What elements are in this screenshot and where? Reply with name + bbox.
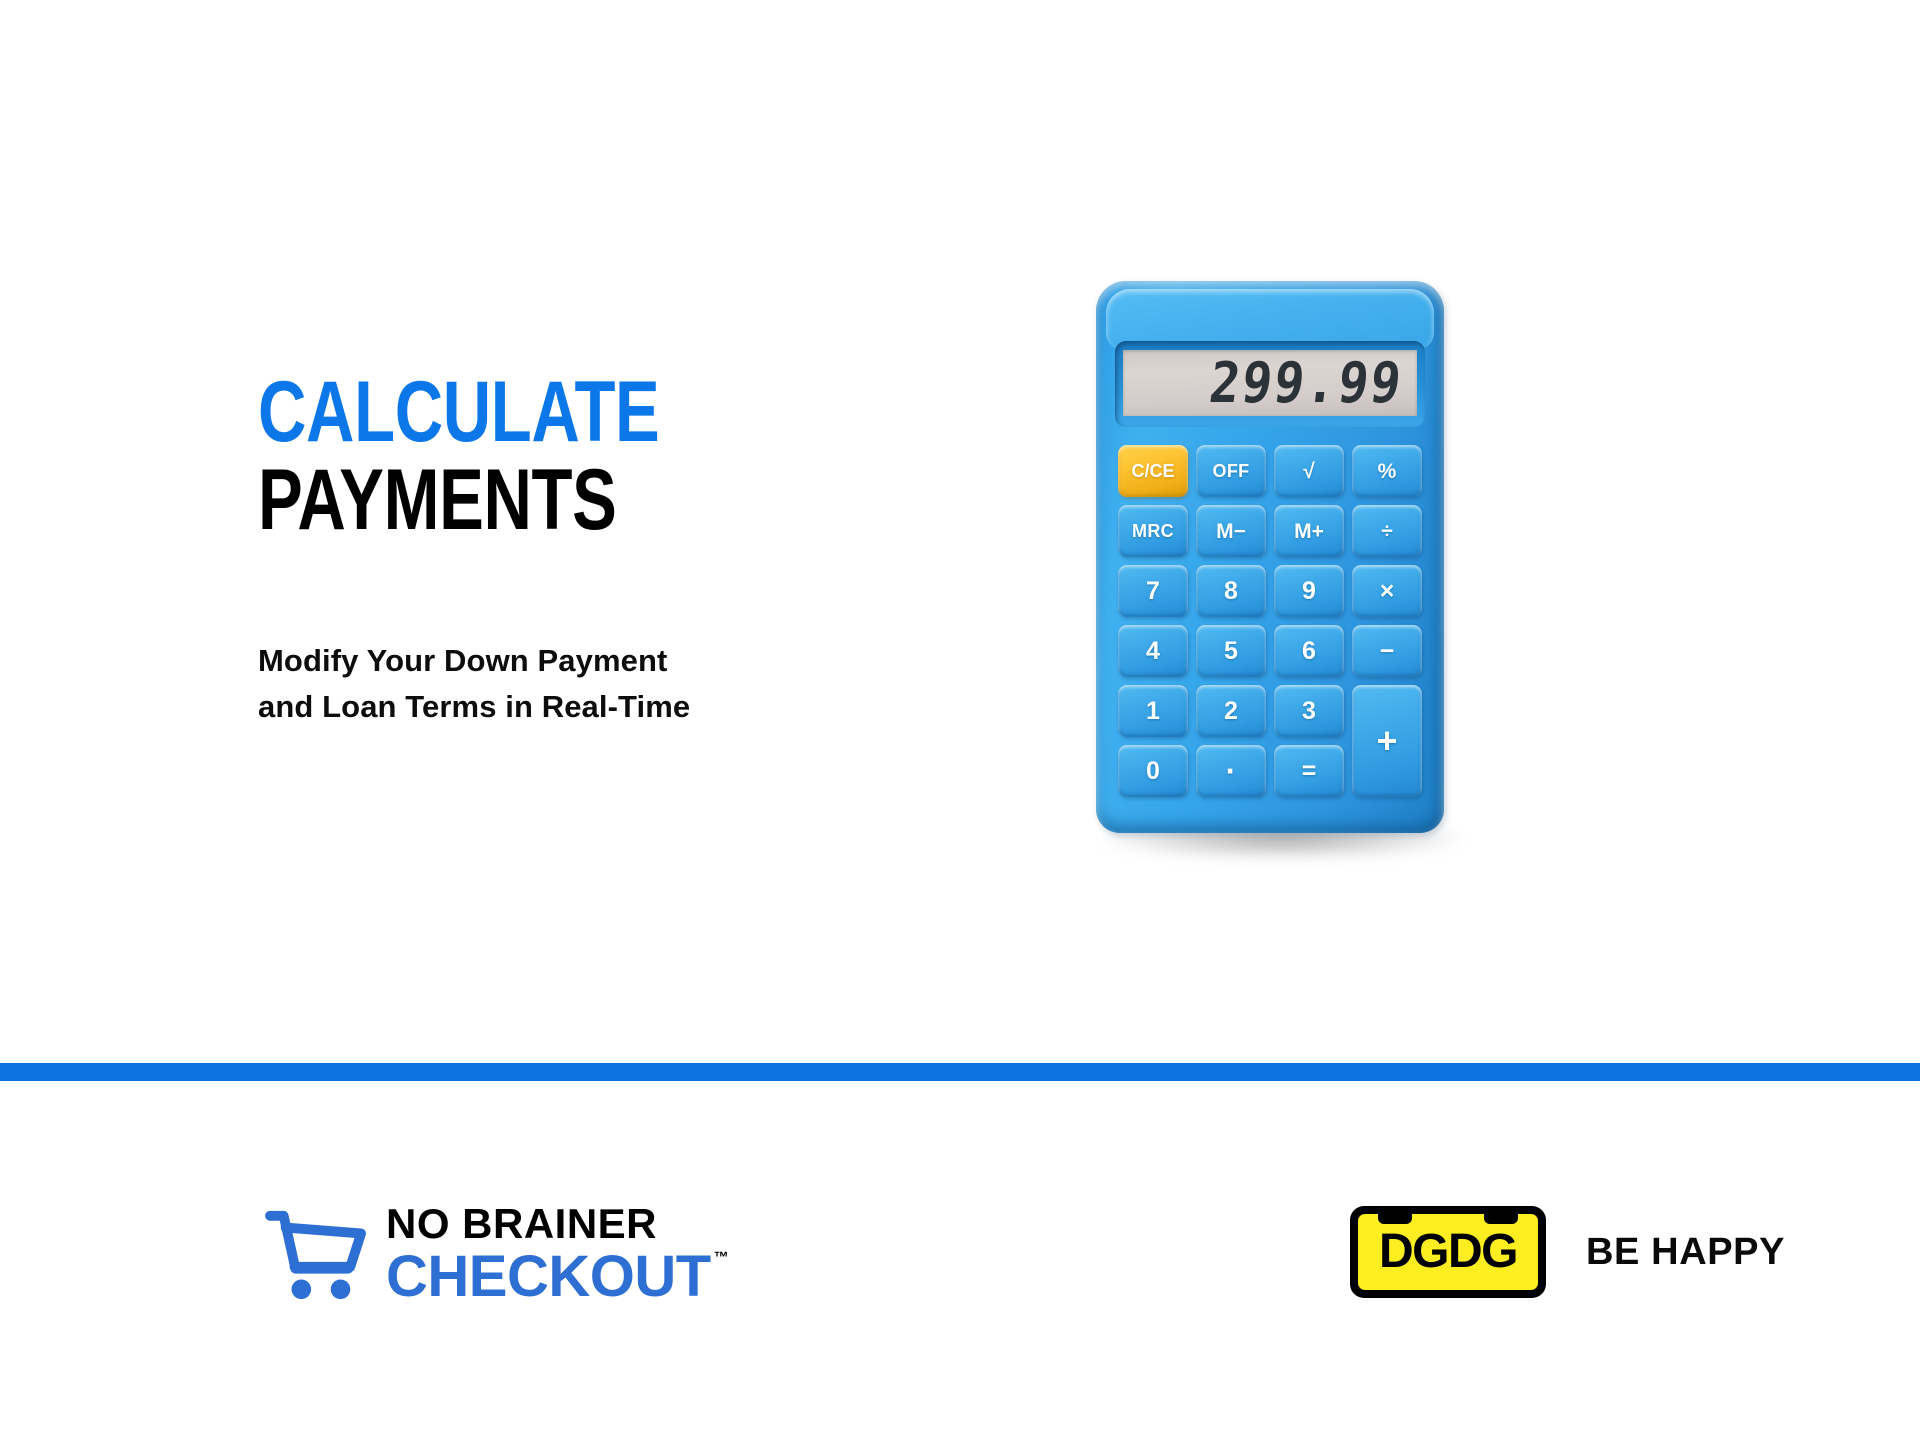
- nbc-wordmark-line-2-row: CHECKOUT ™: [386, 1248, 729, 1306]
- calc-key-2[interactable]: 2: [1196, 685, 1266, 737]
- nbc-wordmark-line-1: NO BRAINER: [386, 1203, 729, 1245]
- dgdg-tagline: BE HAPPY: [1586, 1233, 1785, 1271]
- calc-key-sqrt[interactable]: √: [1274, 445, 1344, 497]
- calc-key-4[interactable]: 4: [1118, 625, 1188, 677]
- nbc-wordmark-line-2: CHECKOUT: [386, 1248, 711, 1306]
- calculator-top-bezel: [1106, 289, 1434, 349]
- calculator-lcd-screen: 299.99: [1123, 350, 1417, 416]
- calculator-keypad[interactable]: C/CEOFF√%MRCM−M+÷789×456−123+0·=: [1118, 445, 1422, 803]
- subtitle-block: Modify Your Down Payment and Loan Terms …: [258, 638, 958, 730]
- calc-key-subtract[interactable]: −: [1352, 625, 1422, 677]
- calc-key-mrc[interactable]: MRC: [1118, 505, 1188, 557]
- calc-key-6[interactable]: 6: [1274, 625, 1344, 677]
- no-brainer-checkout-wordmark: NO BRAINER CHECKOUT ™: [386, 1203, 729, 1306]
- calc-key-clear[interactable]: C/CE: [1118, 445, 1188, 497]
- calc-key-memory-plus[interactable]: M+: [1274, 505, 1344, 557]
- calc-key-equals[interactable]: =: [1274, 745, 1344, 797]
- calculator-body: 299.99 C/CEOFF√%MRCM−M+÷789×456−123+0·=: [1096, 281, 1444, 833]
- dgdg-plate-notch-right: [1484, 1212, 1518, 1224]
- calculator-display-value: 299.99: [1207, 355, 1407, 411]
- subtitle-line-1: Modify Your Down Payment: [258, 638, 958, 684]
- section-divider-bar: [0, 1063, 1920, 1081]
- calc-key-9[interactable]: 9: [1274, 565, 1344, 617]
- headline-block: CALCULATE PAYMENTS: [258, 372, 1018, 541]
- calc-key-add[interactable]: +: [1352, 685, 1422, 797]
- calc-key-memory-minus[interactable]: M−: [1196, 505, 1266, 557]
- calc-key-8[interactable]: 8: [1196, 565, 1266, 617]
- calc-key-3[interactable]: 3: [1274, 685, 1344, 737]
- calc-key-5[interactable]: 5: [1196, 625, 1266, 677]
- subtitle-line-2: and Loan Terms in Real-Time: [258, 684, 958, 730]
- dgdg-logo[interactable]: DGDG BE HAPPY: [1350, 1206, 1785, 1298]
- dgdg-license-plate: DGDG: [1350, 1206, 1546, 1298]
- calc-key-off[interactable]: OFF: [1196, 445, 1266, 497]
- calc-key-divide[interactable]: ÷: [1352, 505, 1422, 557]
- calc-key-percent[interactable]: %: [1352, 445, 1422, 497]
- dgdg-plate-inner: DGDG: [1358, 1214, 1538, 1290]
- hero-panel: CALCULATE PAYMENTS Modify Your Down Paym…: [0, 0, 1920, 1063]
- calc-key-multiply[interactable]: ×: [1352, 565, 1422, 617]
- no-brainer-checkout-logo[interactable]: NO BRAINER CHECKOUT ™: [262, 1203, 729, 1306]
- calculator-illustration: 299.99 C/CEOFF√%MRCM−M+÷789×456−123+0·=: [1082, 281, 1482, 861]
- calc-key-7[interactable]: 7: [1118, 565, 1188, 617]
- calc-key-decimal[interactable]: ·: [1196, 745, 1266, 797]
- dgdg-plate-text: DGDG: [1379, 1228, 1517, 1276]
- headline-line-secondary: PAYMENTS: [258, 460, 851, 542]
- calc-key-0[interactable]: 0: [1118, 745, 1188, 797]
- trademark-symbol: ™: [714, 1250, 729, 1265]
- headline-line-primary: CALCULATE: [258, 372, 851, 454]
- dgdg-plate-notch-left: [1378, 1212, 1412, 1224]
- shopping-cart-icon: [262, 1206, 370, 1304]
- calculator-display-recess: 299.99: [1115, 341, 1425, 427]
- calc-key-1[interactable]: 1: [1118, 685, 1188, 737]
- footer-panel: NO BRAINER CHECKOUT ™ DGDG BE HAPPY: [0, 1081, 1920, 1440]
